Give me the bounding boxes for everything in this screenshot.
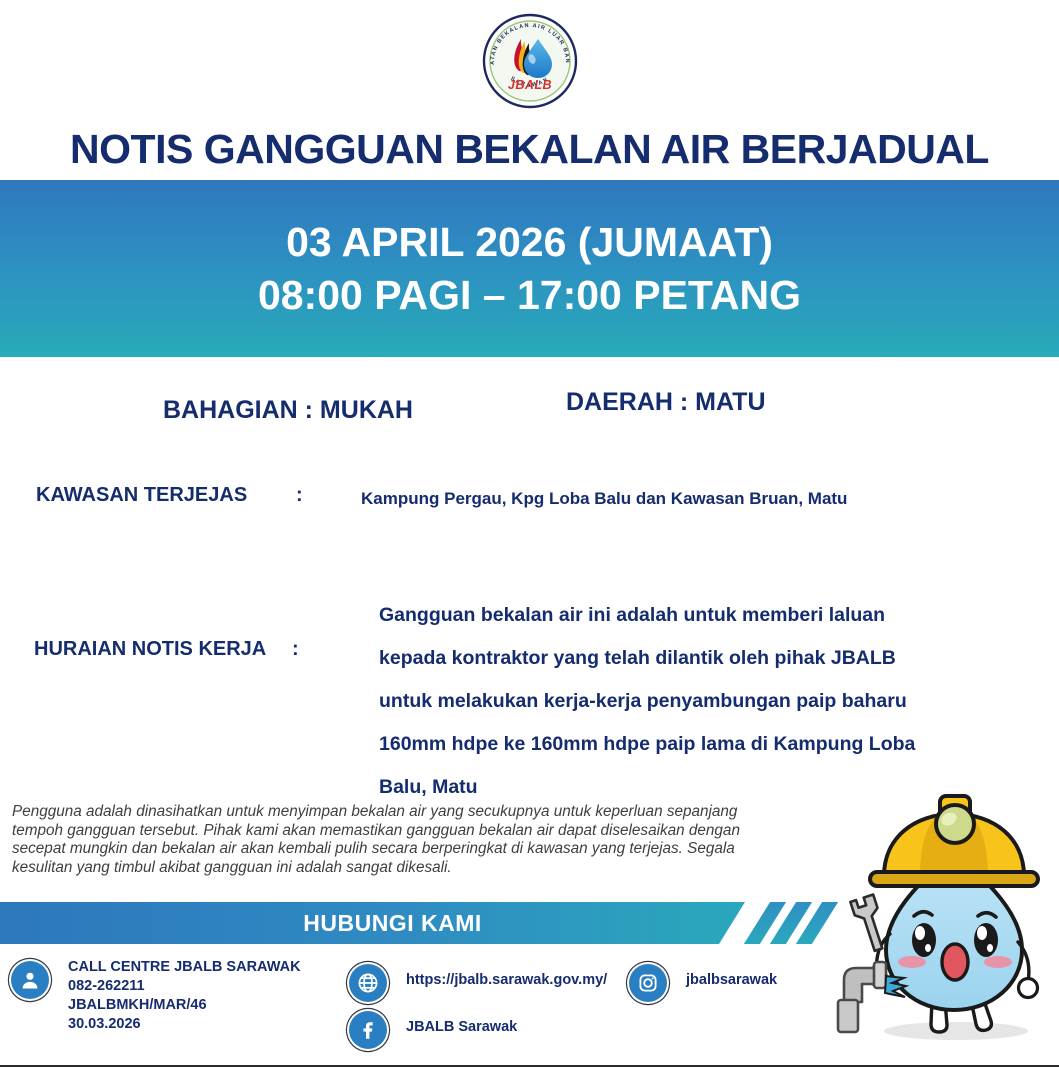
jbalb-logo: JABATAN BEKALAN AIR LUAR BANDAR SARAWAK … — [480, 11, 580, 111]
facebook-icon[interactable] — [349, 1011, 387, 1049]
work-description-line: 160mm hdpe ke 160mm hdpe paip lama di Ka… — [379, 723, 999, 766]
globe-icon[interactable] — [349, 964, 387, 1002]
affected-area-colon: : — [296, 484, 303, 507]
water-droplet-mascot — [836, 792, 1054, 1057]
district-label: DAERAH : MATU — [566, 388, 766, 417]
work-description-colon: : — [292, 638, 299, 661]
website-url[interactable]: https://jbalb.sarawak.gov.my/ — [406, 971, 607, 990]
affected-area-label: KAWASAN TERJEJAS — [36, 484, 247, 507]
contact-header-banner: HUBUNGI KAMI — [0, 902, 745, 944]
instagram-icon[interactable] — [629, 964, 667, 1002]
person-icon — [11, 961, 49, 999]
division-label: BAHAGIAN : MUKAH — [163, 396, 413, 425]
call-centre-title: CALL CENTRE JBALB SARAWAK — [68, 958, 301, 977]
page-title: NOTIS GANGGUAN BEKALAN AIR BERJADUAL — [0, 126, 1059, 173]
mascot-illustration — [836, 792, 1054, 1057]
reference-number: JBALBMKH/MAR/46 — [68, 996, 301, 1015]
instagram-handle[interactable]: jbalbsarawak — [686, 971, 777, 990]
affected-area-value: Kampung Pergau, Kpg Loba Balu dan Kawasa… — [361, 489, 847, 509]
facebook-handle[interactable]: JBALB Sarawak — [406, 1018, 517, 1037]
notice-time: 08:00 PAGI – 17:00 PETANG — [258, 269, 801, 321]
jbalb-logo-icon: JABATAN BEKALAN AIR LUAR BANDAR SARAWAK … — [480, 11, 580, 111]
contact-header-label: HUBUNGI KAMI — [303, 910, 482, 937]
work-description-text: Gangguan bekalan air ini adalah untuk me… — [379, 594, 999, 809]
work-description-line: untuk melakukan kerja-kerja penyambungan… — [379, 680, 999, 723]
contact-website[interactable]: https://jbalb.sarawak.gov.my/ — [346, 961, 607, 1005]
division-district-row: BAHAGIAN : MUKAH DAERAH : MATU — [0, 396, 1059, 430]
date-time-banner: 03 APRIL 2026 (JUMAAT) 08:00 PAGI – 17:0… — [0, 180, 1059, 357]
work-description-label: HURAIAN NOTIS KERJA — [34, 638, 266, 661]
issue-date: 30.03.2026 — [68, 1015, 301, 1034]
work-description-line: kepada kontraktor yang telah dilantik ol… — [379, 637, 999, 680]
notice-date: 03 APRIL 2026 (JUMAAT) — [286, 216, 773, 268]
svg-text:JBALB: JBALB — [507, 78, 551, 92]
contact-instagram[interactable]: jbalbsarawak — [626, 961, 777, 1005]
logo-container: JABATAN BEKALAN AIR LUAR BANDAR SARAWAK … — [0, 8, 1059, 113]
contact-facebook[interactable]: JBALB Sarawak — [346, 1008, 517, 1052]
contact-call-centre: CALL CENTRE JBALB SARAWAK 082-262211 JBA… — [8, 958, 301, 1034]
call-centre-text: CALL CENTRE JBALB SARAWAK 082-262211 JBA… — [68, 958, 301, 1034]
call-centre-phone: 082-262211 — [68, 977, 301, 996]
disclaimer-text: Pengguna adalah dinasihatkan untuk menyi… — [12, 803, 792, 877]
work-description-line: Gangguan bekalan air ini adalah untuk me… — [379, 594, 999, 637]
notice-poster: JABATAN BEKALAN AIR LUAR BANDAR SARAWAK … — [0, 0, 1059, 1067]
